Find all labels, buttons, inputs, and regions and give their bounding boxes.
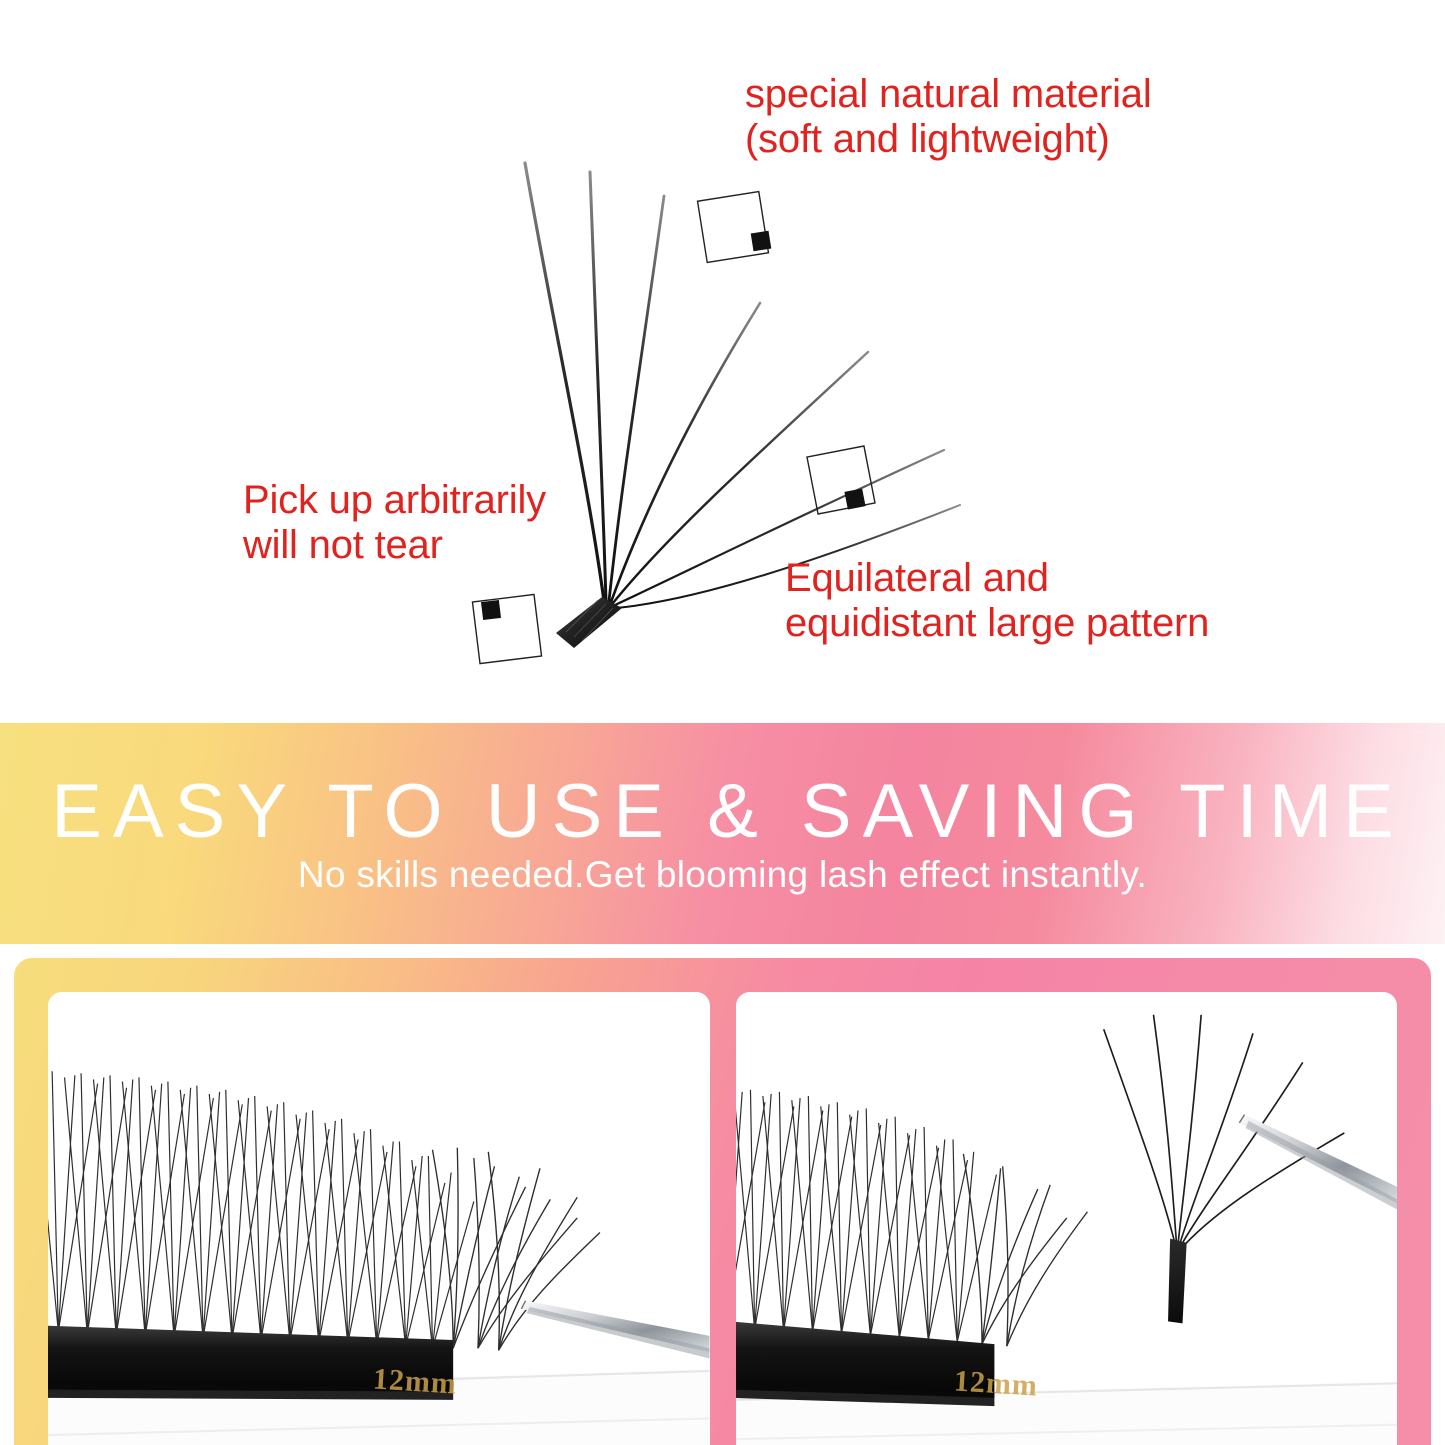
diagram-section: special natural material (soft and light… — [0, 0, 1445, 723]
product-infographic-page: special natural material (soft and light… — [0, 0, 1445, 1445]
gradient-photo-frame: 12mm — [14, 958, 1431, 1445]
photo-card-lash-tray[interactable]: 12mm — [48, 992, 710, 1445]
callout-special-natural-material: special natural material (soft and light… — [745, 72, 1152, 162]
banner-title: EASY TO USE & SAVING TIME — [40, 774, 1404, 850]
lash-fan-illustration — [0, 0, 1445, 723]
photo-grid: 12mm — [14, 958, 1431, 1445]
callout-equilateral-equidistant: Equilateral and equidistant large patter… — [785, 556, 1209, 646]
callout-pick-up-arbitrarily: Pick up arbitrarily will not tear — [243, 478, 546, 568]
size-label-12mm: 12mm — [372, 1362, 458, 1401]
headline-banner: EASY TO USE & SAVING TIME No skills need… — [0, 723, 1445, 944]
size-label-12mm: 12mm — [953, 1364, 1039, 1403]
single-fan-photo — [736, 992, 1398, 1445]
banner-subtitle: No skills needed.Get blooming lash effec… — [298, 856, 1147, 893]
callout-marker-base — [472, 594, 541, 663]
banner-content: EASY TO USE & SAVING TIME No skills need… — [0, 723, 1445, 944]
photo-gallery-section: 12mm — [0, 944, 1445, 1445]
lash-strands — [525, 163, 960, 608]
callout-marker-middle — [807, 446, 875, 514]
photo-card-single-fan[interactable]: 12mm — [736, 992, 1398, 1445]
callout-marker-top — [698, 192, 772, 263]
lash-fan-base — [556, 597, 622, 648]
